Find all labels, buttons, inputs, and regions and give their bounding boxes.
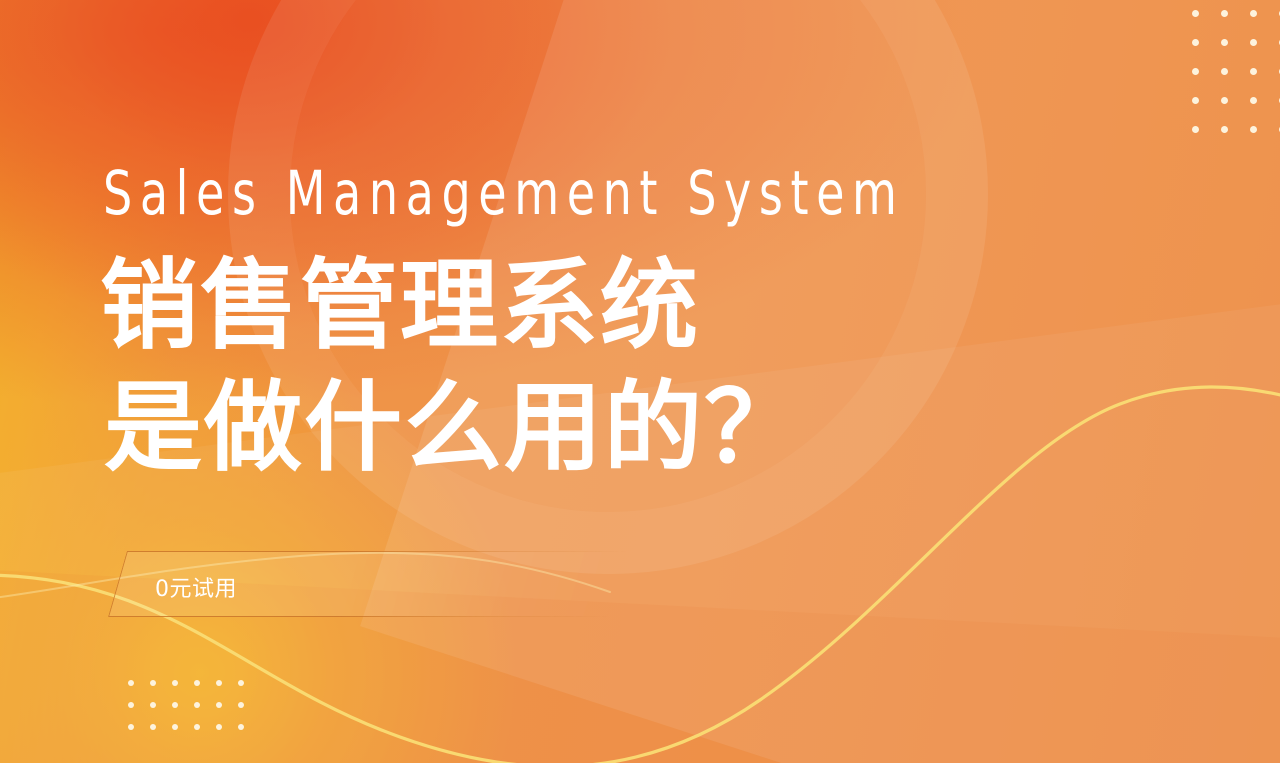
- banner-title-chinese-line2: 是做什么用的？: [104, 367, 804, 489]
- banner-title-chinese: 销售管理系统 是做什么用的？: [100, 245, 804, 489]
- free-trial-button[interactable]: 0元试用: [108, 551, 608, 617]
- free-trial-button-label: 0元试用: [155, 571, 237, 603]
- banner-content: Sales Management System 销售管理系统 是做什么用的？ 0…: [0, 0, 1280, 763]
- promo-banner: Sales Management System 销售管理系统 是做什么用的？ 0…: [0, 0, 1280, 763]
- banner-title-chinese-line1: 销售管理系统: [100, 249, 700, 363]
- banner-title-english: Sales Management System: [103, 158, 905, 230]
